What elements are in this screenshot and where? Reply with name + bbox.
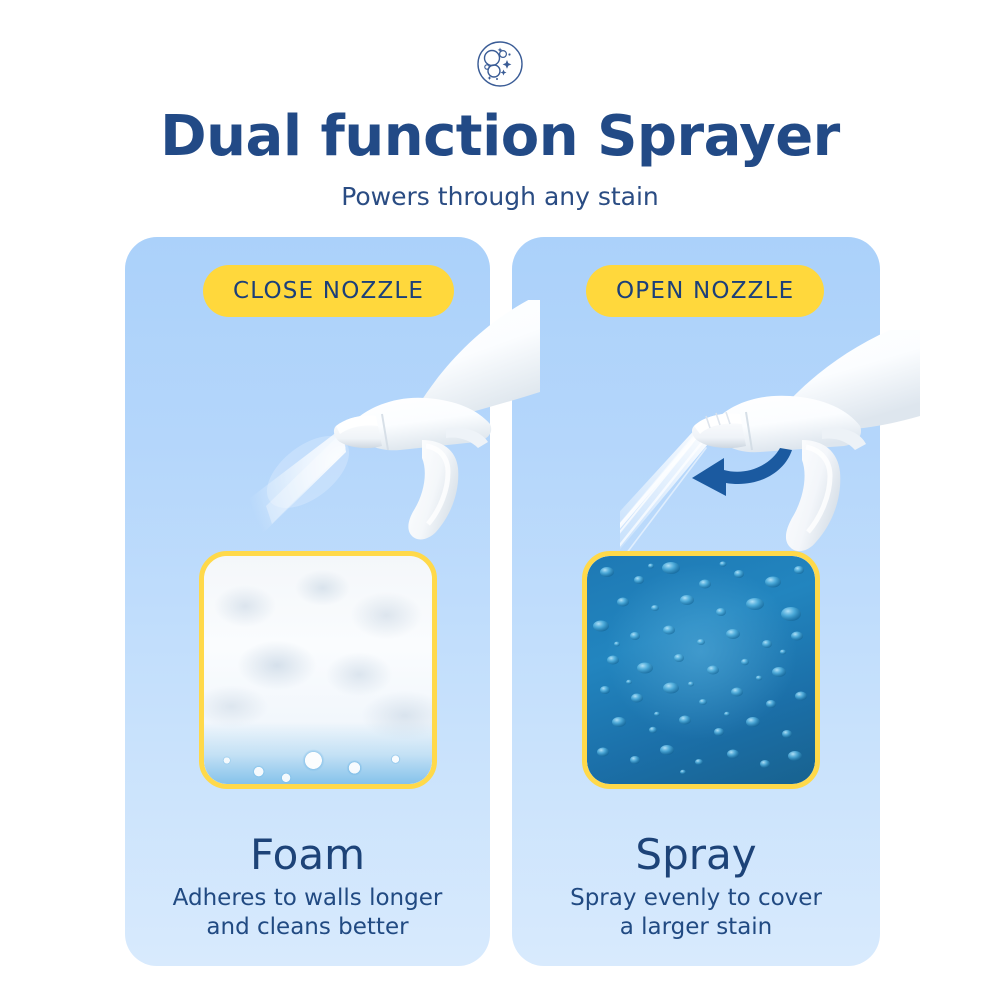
caption-sub-spray-line2: a larger stain bbox=[512, 913, 880, 942]
foam-texture-photo bbox=[199, 551, 437, 789]
droplets-overlay bbox=[587, 556, 815, 784]
bubbles-circle-icon bbox=[474, 38, 526, 90]
caption-sub-foam-line1: Adheres to walls longer bbox=[125, 884, 490, 913]
spray-bottle-trigger-icon-foam bbox=[250, 300, 540, 560]
spray-stream bbox=[620, 426, 708, 566]
rotate-left-arrow-icon bbox=[692, 448, 792, 496]
caption-sub-foam: Adheres to walls longer and cleans bette… bbox=[125, 884, 490, 942]
caption-sub-foam-line2: and cleans better bbox=[125, 913, 490, 942]
caption-heading-foam: Foam bbox=[125, 830, 490, 879]
caption-sub-spray: Spray evenly to cover a larger stain bbox=[512, 884, 880, 942]
caption-sub-spray-line1: Spray evenly to cover bbox=[512, 884, 880, 913]
infographic-page: Dual function Sprayer Powers through any… bbox=[0, 0, 1000, 1000]
spray-bottle-trigger-icon-spray bbox=[620, 330, 920, 580]
water-droplets-photo bbox=[582, 551, 820, 789]
page-title: Dual function Sprayer bbox=[0, 108, 1000, 167]
caption-heading-spray: Spray bbox=[512, 830, 880, 879]
page-subtitle: Powers through any stain bbox=[0, 182, 1000, 211]
badge-close-nozzle[interactable]: CLOSE NOZZLE bbox=[203, 265, 454, 317]
badge-open-nozzle[interactable]: OPEN NOZZLE bbox=[586, 265, 824, 317]
brand-logo bbox=[0, 38, 1000, 90]
